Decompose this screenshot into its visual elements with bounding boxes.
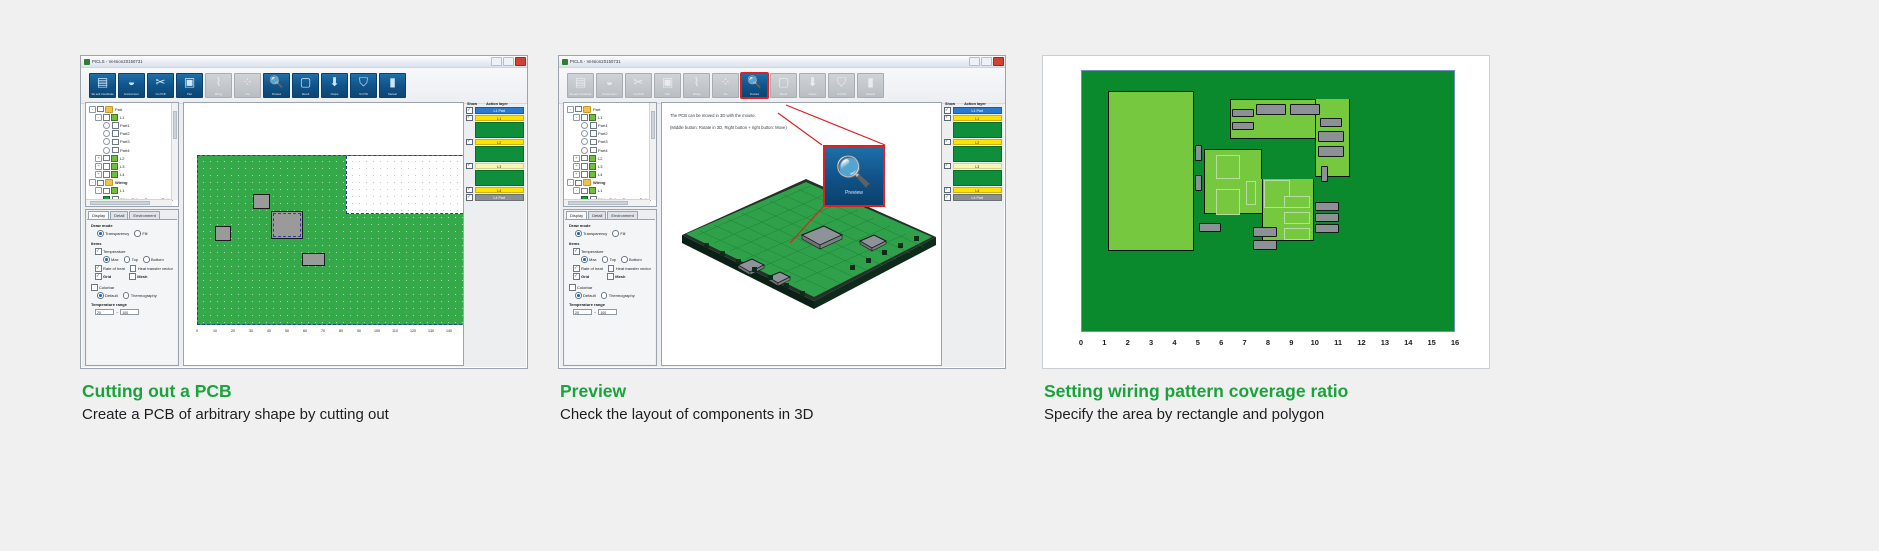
tree-node-label: Part1 — [120, 123, 130, 128]
tree-node[interactable]: -Part — [566, 105, 654, 113]
axis-tick: 15 — [1427, 338, 1435, 347]
layer-panel-header: Show Action layer — [944, 102, 1002, 106]
radio-label: Thermography — [131, 293, 157, 298]
axis-tick: 120 — [410, 329, 416, 333]
layer-visibility-checkbox[interactable] — [466, 107, 473, 114]
checkbox-grid[interactable]: Grid — [95, 273, 111, 280]
tree-node[interactable]: -L1 — [88, 187, 176, 195]
layer-dielectric-block — [953, 146, 1003, 162]
pad-4[interactable] — [1290, 104, 1320, 115]
pad-3[interactable] — [1256, 104, 1286, 115]
toolbar-label: Cut PCB — [148, 93, 173, 96]
layer-panel-header: Show Action layer — [466, 102, 524, 106]
coverage-subregion-2[interactable] — [1216, 189, 1240, 215]
part-large-mid[interactable] — [271, 211, 303, 239]
toolbar-button-output[interactable]: ⬇Output — [799, 73, 826, 98]
part-small-upper[interactable] — [253, 194, 270, 209]
toolbar-label: Output — [800, 93, 825, 96]
axis-tick: 1 — [1102, 338, 1106, 347]
layer-label[interactable]: L3 — [953, 163, 1003, 170]
project-tree[interactable]: -Part -L1 Part1 Part2 Part3 Part4 +L2 +L… — [85, 102, 179, 207]
coverage-subregion-1[interactable] — [1216, 155, 1240, 179]
coverage-x-axis: 012345678910111213141516 — [1081, 338, 1455, 348]
toolbar-button-wiring[interactable]: ⌇Wiring — [683, 73, 710, 98]
pad-5[interactable] — [1320, 118, 1342, 127]
layer-visibility-checkbox[interactable] — [466, 163, 473, 170]
tree-node[interactable]: -Wiring — [566, 179, 654, 187]
checkbox-temperature[interactable]: Temperature — [569, 248, 651, 255]
toolbar-button-via[interactable]: ⁘ Via — [234, 73, 261, 98]
toolbar-button-cut-pcb[interactable]: ✂Cut PCB — [625, 73, 652, 98]
radio-icon — [575, 292, 582, 299]
coverage-region-rect-large[interactable] — [1108, 91, 1194, 251]
draw-mode-label: Draw mode — [569, 223, 651, 228]
axis-tick: 10 — [213, 329, 217, 333]
tree-node-label: L1 — [120, 115, 124, 120]
pcb-3d-board[interactable] — [674, 173, 942, 313]
pad-15[interactable] — [1253, 227, 1277, 237]
radio-transparency[interactable]: Transparency — [97, 230, 129, 237]
tree-node-label: Part2 — [598, 131, 608, 136]
preview-3d-canvas[interactable]: The PCB can be moved in 3D with the mous… — [661, 102, 942, 366]
radio-icon — [575, 230, 582, 237]
layer-dielectric-block — [475, 146, 525, 162]
tree-node[interactable]: Part2 — [88, 130, 176, 138]
tree-node[interactable]: -Wiring — [88, 179, 176, 187]
toolbar-label: Cut PCB — [626, 93, 651, 96]
colorbar-group: Colorbar Default Thermography Temperatur… — [91, 284, 173, 315]
close-button[interactable] — [993, 57, 1004, 66]
tree-node-label: Part1 — [598, 123, 608, 128]
tab-environment[interactable]: Environment — [607, 211, 637, 220]
items-label: Items — [91, 241, 173, 246]
items-label: Items — [569, 241, 651, 246]
layer-row-l1-part[interactable]: L1 Part — [944, 107, 1002, 114]
draw-mode-label: Draw mode — [91, 223, 173, 228]
radio-default[interactable]: Default — [575, 292, 596, 299]
radio-max[interactable]: Max — [103, 256, 119, 263]
layer-visibility-checkbox[interactable] — [944, 139, 951, 146]
tree-node[interactable]: +L3 — [88, 162, 176, 170]
preview-hint-line-1: The PCB can be moved in 3D with the mous… — [670, 111, 756, 120]
layer-label[interactable]: L4 Part — [475, 194, 525, 201]
toolbar-label: Output — [322, 93, 347, 96]
layer-label[interactable]: L3 — [475, 163, 525, 170]
toolbar-button-via[interactable]: ⁘Via — [712, 73, 739, 98]
layer-row-l3[interactable]: L3 — [466, 163, 524, 170]
part-icon: ▣ — [662, 76, 673, 89]
pad-9[interactable] — [1195, 175, 1202, 191]
radio-icon — [123, 292, 130, 299]
axis-tick: 11 — [1334, 338, 1342, 347]
caption-subtitle: Check the layout of components in 3D — [560, 404, 1030, 425]
tab-display[interactable]: Display — [88, 211, 109, 220]
tree-horizontal-scrollbar[interactable] — [564, 199, 650, 206]
layer-row-l1-part[interactable]: L1 Part — [466, 107, 524, 114]
tab-detail[interactable]: Detail — [110, 211, 128, 220]
tree-node[interactable]: Part1 — [88, 121, 176, 129]
checkbox-icon — [607, 273, 614, 280]
layer-label[interactable]: L4 — [953, 187, 1003, 194]
caption-subtitle: Create a PCB of arbitrary shape by cutti… — [82, 404, 552, 425]
tree-node[interactable]: +L2 — [88, 154, 176, 162]
tree-node-label: L2 — [598, 156, 602, 161]
radio-label: Max — [111, 257, 119, 262]
tree-node[interactable]: -L1 — [566, 113, 654, 121]
settings-tabs[interactable]: Display Detail Environment — [564, 210, 656, 219]
layer-row-l3[interactable]: L3 — [944, 163, 1002, 170]
layer-visibility-checkbox[interactable] — [466, 115, 473, 122]
checkbox-icon — [130, 265, 137, 272]
tree-node-label: L1 — [598, 115, 602, 120]
axis-tick: 14 — [1404, 338, 1412, 347]
checkbox-label: Rate of heat — [103, 266, 125, 271]
radio-label: Transparency — [583, 231, 607, 236]
axis-tick: 9 — [1289, 338, 1293, 347]
layer-header-action: Action layer — [486, 102, 508, 106]
layer-row-l4-part[interactable]: L4 Part — [944, 194, 1002, 201]
tree-node[interactable]: +L3 — [566, 162, 654, 170]
layer-row-l2[interactable]: L2 — [466, 139, 524, 146]
coverage-view[interactable]: 012345678910111213141516 — [1042, 55, 1490, 369]
checkbox-heat-transfer-vector[interactable]: Heat transfer vector — [130, 265, 173, 272]
tree-node-label: Part4 — [120, 148, 130, 153]
toolbar-label: Wiring — [684, 93, 709, 96]
tree-vertical-scrollbar[interactable] — [649, 103, 656, 200]
pad-12[interactable] — [1315, 213, 1339, 222]
layer-header-show: Show — [945, 102, 955, 106]
layer-header-show: Show — [467, 102, 477, 106]
checkbox-icon — [573, 248, 580, 255]
caption-2: Preview Check the layout of components i… — [560, 380, 1030, 425]
pcb-x-axis: 0102030405060708090100110120130140150 — [197, 329, 457, 337]
project-tree[interactable]: -Part -L1 Part1 Part2 Part3 Part4 +L2 +L… — [563, 102, 657, 207]
radio-transparency[interactable]: Transparency — [575, 230, 607, 237]
radio-default[interactable]: Default — [97, 292, 118, 299]
toolbar-label: To DTD — [829, 93, 854, 96]
tree-node-label: L1 — [120, 188, 124, 193]
layer-row-l2[interactable]: L2 — [944, 139, 1002, 146]
checkbox-heat-transfer-vector[interactable]: Heat transfer vector — [608, 265, 651, 272]
radio-thermography[interactable]: Thermography — [123, 292, 157, 299]
environment-icon: ◒ — [606, 76, 613, 89]
axis-tick: 6 — [1219, 338, 1223, 347]
layer-row-l1[interactable]: L1 — [466, 115, 524, 122]
radio-icon — [612, 230, 619, 237]
tree-node[interactable]: -L1 — [88, 113, 176, 121]
shield-icon: ⛉ — [359, 76, 368, 89]
checkbox-icon — [95, 273, 102, 280]
settings-panel: Display Detail Environment Draw mode Tra… — [563, 209, 657, 366]
magnifier-icon: 🔍 — [835, 157, 872, 189]
radio-fill[interactable]: Fill — [612, 230, 625, 237]
axis-tick: 100 — [374, 329, 380, 333]
radio-icon — [97, 230, 104, 237]
draw-mode-group: Draw mode Transparency Fill — [569, 223, 651, 238]
pad-8[interactable] — [1195, 145, 1202, 161]
tree-node[interactable]: Part3 — [88, 138, 176, 146]
checkbox-label: Mesh — [137, 274, 147, 279]
range-separator: ~ — [594, 310, 596, 315]
checkbox-rate-of-heat[interactable]: Rate of heat — [573, 265, 603, 272]
tree-node-label: L3 — [598, 164, 602, 169]
layer-dielectric-block — [953, 170, 1003, 186]
temperature-min-input[interactable]: 20 — [573, 309, 592, 315]
checkbox-label: Mesh — [615, 274, 625, 279]
title-bar-1: PICLS - Version20150731 — [81, 56, 527, 68]
axis-tick: 7 — [1243, 338, 1247, 347]
tree-node[interactable]: Part1 — [566, 121, 654, 129]
checkbox-label: Grid — [581, 274, 589, 279]
radio-label: Fill — [142, 231, 147, 236]
toolbar-button-wiring[interactable]: ⌇ Wiring — [205, 73, 232, 98]
toolbar-button-part[interactable]: ▣Part — [654, 73, 681, 98]
toolbar-button-to-dtd[interactable]: ⛉ To DTD — [350, 73, 377, 98]
panel-preview: PICLS - Version20150731 ▤Set and Coordin… — [558, 55, 1006, 369]
layer-visibility-checkbox[interactable] — [944, 163, 951, 170]
part-wide-lower[interactable] — [302, 253, 325, 266]
radio-bottom[interactable]: Bottom — [621, 256, 642, 263]
toolbar-button-environment[interactable]: ◒Environment — [596, 73, 623, 98]
pad-6[interactable] — [1318, 131, 1344, 142]
tree-node[interactable]: -L1 — [566, 187, 654, 195]
tree-node[interactable]: +L4 — [88, 171, 176, 179]
checkbox-colorbar[interactable]: Colorbar — [91, 284, 173, 291]
minimize-button[interactable] — [969, 57, 980, 66]
checkbox-label: Colorbar — [99, 285, 114, 290]
toolbar-button-part[interactable]: ▣ Part — [176, 73, 203, 98]
preview-tooltip-label: Preview — [845, 190, 863, 196]
draw-mode-group: Draw mode Transparency Fill — [91, 223, 173, 238]
layer-label[interactable]: L1 Part — [475, 107, 525, 114]
axis-tick: 110 — [392, 329, 398, 333]
tree-horizontal-scrollbar[interactable] — [86, 199, 172, 206]
checkbox-label: Colorbar — [577, 285, 592, 290]
toolbar-button-preview[interactable]: 🔍 Preview — [263, 73, 290, 98]
checkbox-label: Rate of heat — [581, 266, 603, 271]
toolbar-button-set-and-coordinate[interactable]: ▤Set and Coordinate — [567, 73, 594, 98]
tab-environment[interactable]: Environment — [129, 211, 159, 220]
layer-label[interactable]: L1 — [475, 115, 525, 122]
layer-label[interactable]: L2 — [953, 139, 1003, 146]
panel-cutting-out-a-pcb: PICLS - Version20150731 ▤ Set and Coordi… — [80, 55, 528, 369]
radio-icon — [602, 256, 609, 263]
radio-label: Default — [105, 293, 118, 298]
window-controls[interactable] — [491, 57, 526, 66]
tree-node[interactable]: +L2 — [566, 154, 654, 162]
layer-label[interactable]: L4 Part — [953, 194, 1003, 201]
layer-visibility-checkbox[interactable] — [944, 194, 951, 201]
layer-label[interactable]: L1 Part — [953, 107, 1003, 114]
magnifier-icon: 🔍 — [747, 76, 762, 89]
layer-header-action: Action layer — [964, 102, 986, 106]
toolbar-label: Result — [293, 93, 318, 96]
axis-tick: 16 — [1451, 338, 1459, 347]
checkbox-rate-of-heat[interactable]: Rate of heat — [95, 265, 125, 272]
app-logo-icon — [562, 59, 568, 65]
axis-tick: 70 — [321, 329, 325, 333]
layer-row-l1[interactable]: L1 — [944, 115, 1002, 122]
radio-fill[interactable]: Fill — [134, 230, 147, 237]
toolbar-button-output[interactable]: ⬇ Output — [321, 73, 348, 98]
toolbar-button-manual[interactable]: ▮Manual — [857, 73, 884, 98]
title-bar-2: PICLS - Version20150731 — [559, 56, 1005, 68]
minimize-button[interactable] — [491, 57, 502, 66]
pcb-canvas[interactable]: 0102030405060708090100110120130140150 — [183, 102, 464, 366]
layer-row-l4[interactable]: L4 — [944, 187, 1002, 194]
tree-vertical-scrollbar[interactable] — [171, 103, 178, 200]
toolbar-button-result[interactable]: ▢ Result — [292, 73, 319, 98]
layer-visibility-checkbox[interactable] — [944, 115, 951, 122]
tree-node-label: L2 — [120, 156, 124, 161]
checkbox-temperature[interactable]: Temperature — [91, 248, 173, 255]
radio-label: Top — [610, 257, 616, 262]
temperature-min-input[interactable]: 20 — [95, 309, 114, 315]
layer-label[interactable]: L4 — [475, 187, 525, 194]
toolbar-label: Preview — [742, 93, 767, 96]
radio-max[interactable]: Max — [581, 256, 597, 263]
pad-7[interactable] — [1318, 146, 1344, 157]
layer-visibility-checkbox[interactable] — [466, 139, 473, 146]
checkbox-mesh[interactable]: Mesh — [129, 273, 147, 280]
radio-label: Bottom — [151, 257, 164, 262]
radio-top[interactable]: Top — [602, 256, 616, 263]
layer-label[interactable]: L2 — [475, 139, 525, 146]
pad-10[interactable] — [1321, 166, 1328, 182]
checkbox-label: Heat transfer vector — [616, 266, 651, 271]
toolbar-button-cut-pcb[interactable]: ✂ Cut PCB — [147, 73, 174, 98]
left-column-2: -Part -L1 Part1 Part2 Part3 Part4 +L2 +L… — [559, 99, 659, 368]
cut-out-region[interactable] — [346, 156, 464, 214]
caption-1: Cutting out a PCB Create a PCB of arbitr… — [82, 380, 552, 425]
coverage-subregion-6[interactable] — [1284, 212, 1310, 224]
maximize-button[interactable] — [981, 57, 992, 66]
pad-11[interactable] — [1315, 202, 1339, 211]
pad-14[interactable] — [1199, 223, 1221, 232]
temperature-max-input[interactable]: 100 — [120, 309, 139, 315]
display-tab-pane: Draw mode Transparency Fill Items Temper… — [565, 219, 655, 364]
tree-node[interactable]: Part4 — [566, 146, 654, 154]
tree-node-label: L4 — [598, 172, 602, 177]
scissors-icon: ✂ — [633, 76, 643, 89]
layer-visibility-checkbox[interactable] — [944, 107, 951, 114]
radio-icon — [134, 230, 141, 237]
maximize-button[interactable] — [503, 57, 514, 66]
axis-tick: 140 — [446, 329, 452, 333]
caption-subtitle: Specify the area by rectangle and polygo… — [1044, 404, 1664, 425]
tree-node-label: Part — [115, 107, 122, 112]
preview-hint-line-2: (Middle button: Rotate in 3D, Right butt… — [670, 123, 787, 132]
pad-1[interactable] — [1232, 109, 1254, 117]
toolbar-button-environment[interactable]: ◒ Environment — [118, 73, 145, 98]
tree-node[interactable]: Part2 — [566, 130, 654, 138]
close-button[interactable] — [515, 57, 526, 66]
checkbox-mesh[interactable]: Mesh — [607, 273, 625, 280]
toolbar-button-manual[interactable]: ▮ Manual — [379, 73, 406, 98]
radio-top[interactable]: Top — [124, 256, 138, 263]
radio-thermography[interactable]: Thermography — [601, 292, 635, 299]
radio-label: Fill — [620, 231, 625, 236]
layer-visibility-checkbox[interactable] — [466, 194, 473, 201]
radio-icon — [601, 292, 608, 299]
via-icon: ⁘ — [720, 76, 730, 89]
tree-node[interactable]: Part3 — [566, 138, 654, 146]
window-controls[interactable] — [969, 57, 1004, 66]
radio-label: Transparency — [105, 231, 129, 236]
toolbar-label: Manual — [380, 93, 405, 96]
tree-node[interactable]: -Part — [88, 105, 176, 113]
part-small-left[interactable] — [215, 226, 231, 241]
preview-tooltip-callout[interactable]: 🔍 Preview — [823, 145, 885, 207]
coverage-subregion-7[interactable] — [1284, 228, 1310, 240]
temperature-max-input[interactable]: 100 — [598, 309, 617, 315]
layer-visibility-checkbox[interactable] — [944, 187, 951, 194]
tree-node[interactable]: Part4 — [88, 146, 176, 154]
tree-node-label: L3 — [120, 164, 124, 169]
axis-tick: 130 — [428, 329, 434, 333]
left-column-1: -Part -L1 Part1 Part2 Part3 Part4 +L2 +L… — [81, 99, 181, 368]
tree-node-label: L4 — [120, 172, 124, 177]
coverage-subregion-3[interactable] — [1246, 181, 1256, 205]
tree-node[interactable]: +L4 — [566, 171, 654, 179]
radio-icon — [103, 256, 110, 263]
coverage-board[interactable] — [1081, 70, 1455, 332]
checkbox-colorbar[interactable]: Colorbar — [569, 284, 651, 291]
toolbar-button-result[interactable]: ▢Result — [770, 73, 797, 98]
axis-tick: 80 — [339, 329, 343, 333]
pcb-board-top-view[interactable] — [197, 155, 464, 325]
checkbox-grid[interactable]: Grid — [573, 273, 589, 280]
toolbar-label: Wiring — [206, 93, 231, 96]
toolbar-button-to-dtd[interactable]: ⛉To DTD — [828, 73, 855, 98]
layer-row-l4-part[interactable]: L4 Part — [466, 194, 524, 201]
caption-title: Cutting out a PCB — [82, 380, 552, 402]
checkbox-icon — [95, 265, 102, 272]
toolbar-label: Preview — [264, 93, 289, 96]
checkbox-icon — [573, 265, 580, 272]
toolbar-label: To DTD — [351, 93, 376, 96]
tab-detail[interactable]: Detail — [588, 211, 606, 220]
checkbox-icon — [129, 273, 136, 280]
layer-label[interactable]: L1 — [953, 115, 1003, 122]
pad-16[interactable] — [1253, 240, 1277, 250]
pad-13[interactable] — [1315, 224, 1339, 233]
toolbar-button-set-and-coordinate[interactable]: ▤ Set and Coordinate — [89, 73, 116, 98]
toolbar-label: Via — [235, 93, 260, 96]
checkbox-label: Grid — [103, 274, 111, 279]
layer-row-l4[interactable]: L4 — [466, 187, 524, 194]
coverage-subregion-5[interactable] — [1284, 196, 1310, 208]
axis-tick: 5 — [1196, 338, 1200, 347]
axis-tick: 12 — [1357, 338, 1365, 347]
layer-visibility-checkbox[interactable] — [466, 187, 473, 194]
tree-node-label: Wiring — [593, 180, 605, 185]
tab-display[interactable]: Display — [566, 211, 587, 220]
environment-icon: ◒ — [128, 76, 135, 89]
settings-tabs[interactable]: Display Detail Environment — [86, 210, 178, 219]
toolbar-button-preview[interactable]: 🔍Preview — [741, 73, 768, 98]
checkbox-icon — [95, 248, 102, 255]
pad-2[interactable] — [1232, 122, 1254, 130]
items-group: Items Temperature Max Top Bottom Rate of… — [91, 241, 173, 281]
radio-bottom[interactable]: Bottom — [143, 256, 164, 263]
layer-panel: Show Action layer L1 Part L1 L2 L3 L4 L4… — [942, 99, 1005, 368]
book-icon: ▮ — [389, 76, 396, 89]
figure-strip: PICLS - Version20150731 ▤ Set and Coordi… — [0, 0, 1879, 551]
panel-wiring-pattern-coverage: 012345678910111213141516 — [1042, 55, 1490, 369]
scissors-icon: ✂ — [155, 76, 165, 89]
app-window-2: PICLS - Version20150731 ▤Set and Coordin… — [558, 55, 1006, 369]
